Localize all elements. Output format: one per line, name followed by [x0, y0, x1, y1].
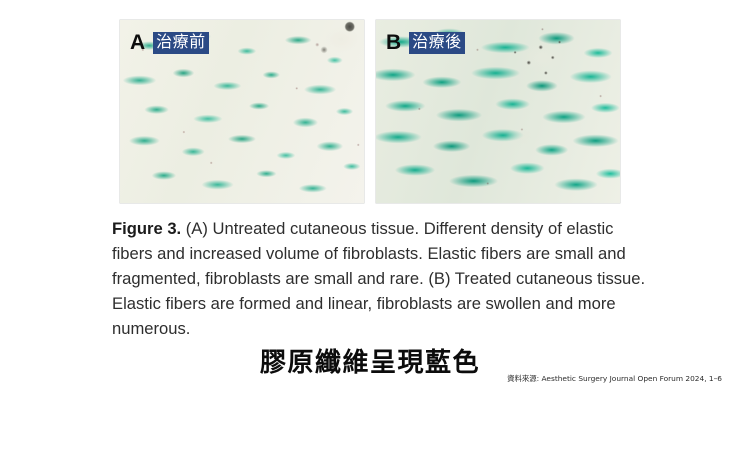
panel-a-tag: A 治療前 [130, 32, 209, 54]
panel-a-chinese-label: 治療前 [153, 32, 209, 54]
figure-caption-label: Figure 3. [112, 219, 181, 238]
panel-b-tag: B 治療後 [386, 32, 465, 54]
micrograph-panel-a: A 治療前 [120, 20, 364, 203]
panel-letter-b: B [386, 32, 401, 53]
figure-caption-text: (A) Untreated cutaneous tissue. Differen… [112, 219, 645, 338]
figure-caption: Figure 3. (A) Untreated cutaneous tissue… [112, 216, 646, 341]
panel-letter-a: A [130, 32, 145, 53]
slide-canvas: A 治療前 B 治療後 Figure 3. (A) Untreated cuta… [0, 0, 740, 463]
micrograph-panel-b: B 治療後 [376, 20, 620, 203]
panel-b-chinese-label: 治療後 [409, 32, 465, 54]
source-citation: 資料來源: Aesthetic Surgery Journal Open For… [507, 374, 722, 384]
figure-panels: A 治療前 B 治療後 [120, 20, 620, 203]
